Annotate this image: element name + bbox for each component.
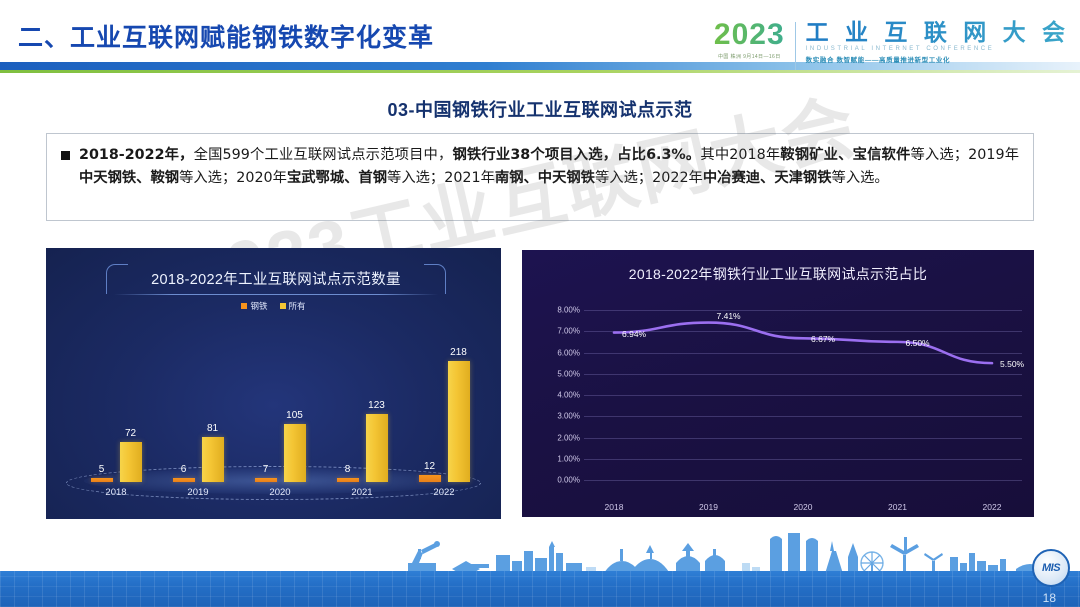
line-chart-panel: 2018-2022年钢铁行业工业互联网试点示范占比 0.00%1.00%2.00… [522, 250, 1034, 517]
bar-group: 12218 [408, 322, 480, 482]
bar-group: 681 [162, 322, 234, 482]
bar-value-label: 7 [263, 465, 269, 475]
bar-x-axis-label: 2021 [326, 487, 398, 498]
bar-column[interactable]: 105 [284, 411, 306, 482]
body-segment: 等入选；2020年 [179, 170, 287, 186]
body-segment: 南钢、中天钢铁 [495, 170, 595, 186]
bar-value-label: 218 [450, 348, 467, 358]
bar-chart-title-ribbon: 2018-2022年工业互联网试点示范数量 [106, 264, 446, 298]
data-point-label: 7.41% [717, 311, 741, 321]
page-number: 18 [1043, 591, 1056, 605]
bar-group: 8123 [326, 322, 398, 482]
bar-value-label: 8 [345, 465, 351, 475]
x-axis-tick-label: 2020 [794, 502, 813, 512]
legend-swatch-icon [280, 303, 286, 309]
footer-ground-band [0, 571, 1080, 607]
bar[interactable] [337, 478, 359, 482]
logo-year: 2023 [714, 20, 785, 50]
bar[interactable] [448, 361, 470, 482]
bar-group: 7105 [244, 322, 316, 482]
x-axis-tick-label: 2018 [605, 502, 624, 512]
organization-badge-text: MIS [1042, 562, 1060, 574]
logo-slogan: 数实融合 数智赋能——高质量推进新型工业化 [806, 54, 1070, 64]
bar[interactable] [284, 424, 306, 482]
data-point-label: 6.94% [622, 329, 646, 339]
line-series [522, 296, 1034, 496]
body-segment: 等入选；2019年 [910, 147, 1019, 163]
bar-column[interactable]: 5 [91, 465, 113, 482]
bar-chart-legend: 钢铁所有 [46, 300, 501, 312]
bar[interactable] [366, 414, 388, 482]
bar-column[interactable]: 6 [173, 465, 195, 482]
body-segment: 宝武鄂城、首钢 [287, 170, 387, 186]
bar-x-axis-label: 2022 [408, 487, 480, 498]
bar-column[interactable]: 72 [120, 429, 142, 482]
bar-value-label: 81 [207, 424, 218, 434]
bar[interactable] [255, 478, 277, 482]
bar-column[interactable]: 81 [202, 424, 224, 482]
bar-value-label: 5 [99, 465, 105, 475]
bar-value-label: 6 [181, 465, 187, 475]
slide-header: 二、工业互联网赋能钢铁数字化变革 2023 中国 株洲 9月14日—16日 工 … [0, 0, 1080, 88]
slide-footer: MIS 18 [0, 537, 1080, 607]
bar-x-axis-label: 2018 [80, 487, 152, 498]
logo-name-en: INDUSTRIAL INTERNET CONFERENCE [806, 46, 1070, 52]
bar-column[interactable]: 7 [255, 465, 277, 482]
bar-x-axis-label: 2020 [244, 487, 316, 498]
body-paragraph: 2018-2022年，全国599个工业互联网试点示范项目中，钢铁行业38个项目入… [79, 144, 1019, 190]
data-point-label: 6.67% [811, 334, 835, 344]
bar-value-label: 123 [368, 401, 385, 411]
body-text-box: 2018-2022年，全国599个工业互联网试点示范项目中，钢铁行业38个项目入… [46, 133, 1034, 221]
bar-column[interactable]: 218 [448, 348, 470, 482]
body-segment: 等入选；2022年 [595, 170, 703, 186]
bar-column[interactable]: 8 [337, 465, 359, 482]
bar-value-label: 105 [286, 411, 303, 421]
bar-chart-plot-area: 572201868120197105202081232021122182022 [62, 326, 485, 496]
bar[interactable] [173, 478, 195, 482]
body-segment: 中冶赛迪、天津钢铁 [703, 170, 832, 186]
line-chart-plot-area: 0.00%1.00%2.00%3.00%4.00%5.00%6.00%7.00%… [522, 296, 1034, 496]
bar[interactable] [202, 437, 224, 482]
logo-year-block: 2023 中国 株洲 9月14日—16日 [714, 20, 795, 60]
x-axis-tick-label: 2022 [983, 502, 1002, 512]
bar-column[interactable]: 123 [366, 401, 388, 482]
body-segment: 等入选；2021年 [387, 170, 495, 186]
body-segment: 中天钢铁、鞍钢 [79, 170, 179, 186]
body-segment: 2018-2022年， [79, 147, 194, 163]
logo-name-block: 工 业 互 联 网 大 会 INDUSTRIAL INTERNET CONFER… [806, 20, 1070, 64]
logo-divider [795, 22, 796, 70]
legend-item[interactable]: 所有 [280, 300, 306, 312]
data-point-label: 5.50% [1000, 359, 1024, 369]
legend-swatch-icon [241, 303, 247, 309]
body-segment: 钢铁行业38个项目入选，占比6.3%。 [452, 147, 700, 163]
logo-year-subtitle: 中国 株洲 9月14日—16日 [714, 53, 785, 60]
legend-label: 钢铁 [250, 300, 267, 312]
bar-group: 572 [80, 322, 152, 482]
body-segment: 其中2018年 [700, 147, 780, 163]
x-axis-tick-label: 2021 [888, 502, 907, 512]
organization-badge: MIS [1032, 549, 1070, 587]
line-chart-title: 2018-2022年钢铁行业工业互联网试点示范占比 [522, 264, 1034, 284]
section-heading: 03-中国钢铁行业工业互联网试点示范 [0, 96, 1080, 122]
legend-item[interactable]: 钢铁 [241, 300, 267, 312]
square-bullet-icon [61, 151, 70, 160]
data-point-label: 6.50% [906, 338, 930, 348]
bar[interactable] [419, 475, 441, 482]
bar[interactable] [91, 478, 113, 482]
bar-value-label: 12 [424, 462, 435, 472]
page-title: 二、工业互联网赋能钢铁数字化变革 [18, 18, 434, 54]
bar-chart-title: 2018-2022年工业互联网试点示范数量 [106, 268, 446, 289]
ribbon-underline [114, 294, 438, 295]
body-segment: 全国599个工业互联网试点示范项目中， [194, 147, 453, 163]
bar-column[interactable]: 12 [419, 462, 441, 482]
legend-label: 所有 [289, 300, 306, 312]
body-segment: 鞍钢矿业、宝信软件 [780, 147, 910, 163]
logo-name-cn: 工 业 互 联 网 大 会 [806, 20, 1070, 44]
bar-value-label: 72 [125, 429, 136, 439]
bar[interactable] [120, 442, 142, 482]
x-axis-tick-label: 2019 [699, 502, 718, 512]
body-segment: 等入选。 [832, 170, 889, 186]
conference-logo: 2023 中国 株洲 9月14日—16日 工 业 互 联 网 大 会 INDUS… [714, 20, 1070, 72]
bar-x-axis-label: 2019 [162, 487, 234, 498]
bar-chart-panel: 2018-2022年工业互联网试点示范数量 钢铁所有 5722018681201… [46, 248, 501, 519]
